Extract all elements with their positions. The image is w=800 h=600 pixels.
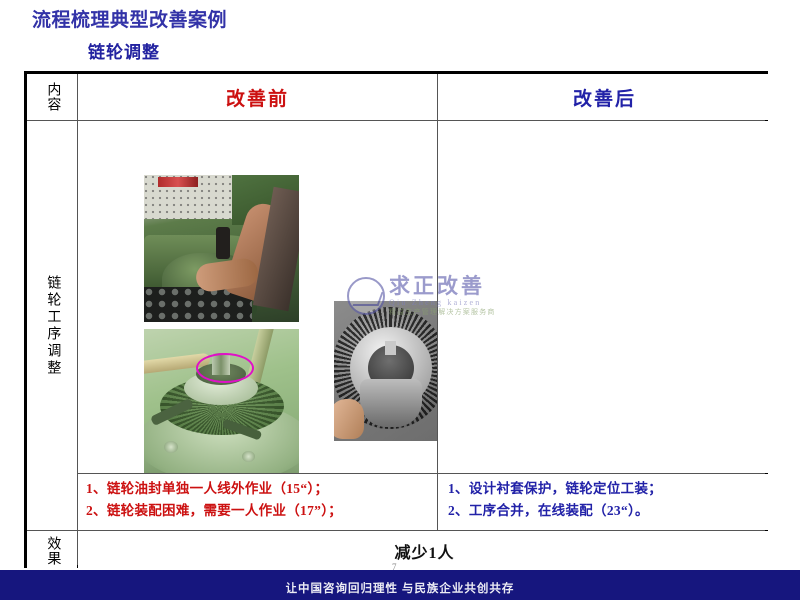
page-subtitle: 链轮调整: [88, 38, 160, 63]
after-photo-pane: [438, 121, 771, 473]
before-point-1: 1、链轮油封单独一人线外作业（15“）；: [86, 478, 431, 500]
comparison-table: 内容 改善前 改善后 链轮工序调整: [24, 71, 768, 568]
header-cell-after: 改善后: [438, 74, 771, 120]
table-hline-header: [27, 120, 765, 121]
row-label-cell: 链轮工序调整: [27, 121, 77, 530]
before-points-cell: 1、链轮油封单独一人线外作业（15“）； 2、链轮装配困难，需要一人作业（17”…: [78, 474, 437, 530]
header-cell-content: 内容: [27, 74, 77, 120]
header-content-label: 内容: [45, 82, 60, 112]
after-point-2: 2、工序合并，在线装配（23“）。: [448, 500, 765, 522]
footer-text: 让中国咨询回归理性 与民族企业共创共存: [286, 580, 515, 596]
after-point-1: 1、设计衬套保护，链轮定位工装；: [448, 478, 765, 500]
table-vline-col1: [77, 74, 78, 565]
effect-value-cell: 减少1人: [78, 531, 771, 571]
before-photo-pane: [78, 121, 437, 473]
effect-label-text: 效果: [45, 536, 60, 566]
table-vline-col2: [437, 74, 438, 531]
page-title: 流程梳理典型改善案例: [32, 5, 227, 32]
green-sprocket-shaft-highlight-photo: [144, 329, 299, 473]
table-hline-effect: [27, 530, 765, 531]
row-label-text: 链轮工序调整: [45, 275, 60, 377]
slide-canvas: 流程梳理典型改善案例 链轮调整 内容 改善前 改善后 链轮工序调整: [0, 0, 800, 600]
table-hline-points: [77, 473, 765, 474]
before-point-2: 2、链轮装配困难，需要一人作业（17”）；: [86, 500, 431, 522]
header-cell-before: 改善前: [78, 74, 437, 120]
after-points-cell: 1、设计衬套保护，链轮定位工装； 2、工序合并，在线装配（23“）。: [438, 474, 771, 530]
metal-sprocket-closeup-photo: [334, 301, 437, 441]
footer-bar: 让中国咨询回归理性 与民族企业共创共存: [0, 570, 800, 600]
worker-hands-green-machine-photo: [144, 175, 299, 322]
effect-label-cell: 效果: [27, 531, 77, 571]
magenta-highlight-ellipse: [196, 353, 254, 383]
